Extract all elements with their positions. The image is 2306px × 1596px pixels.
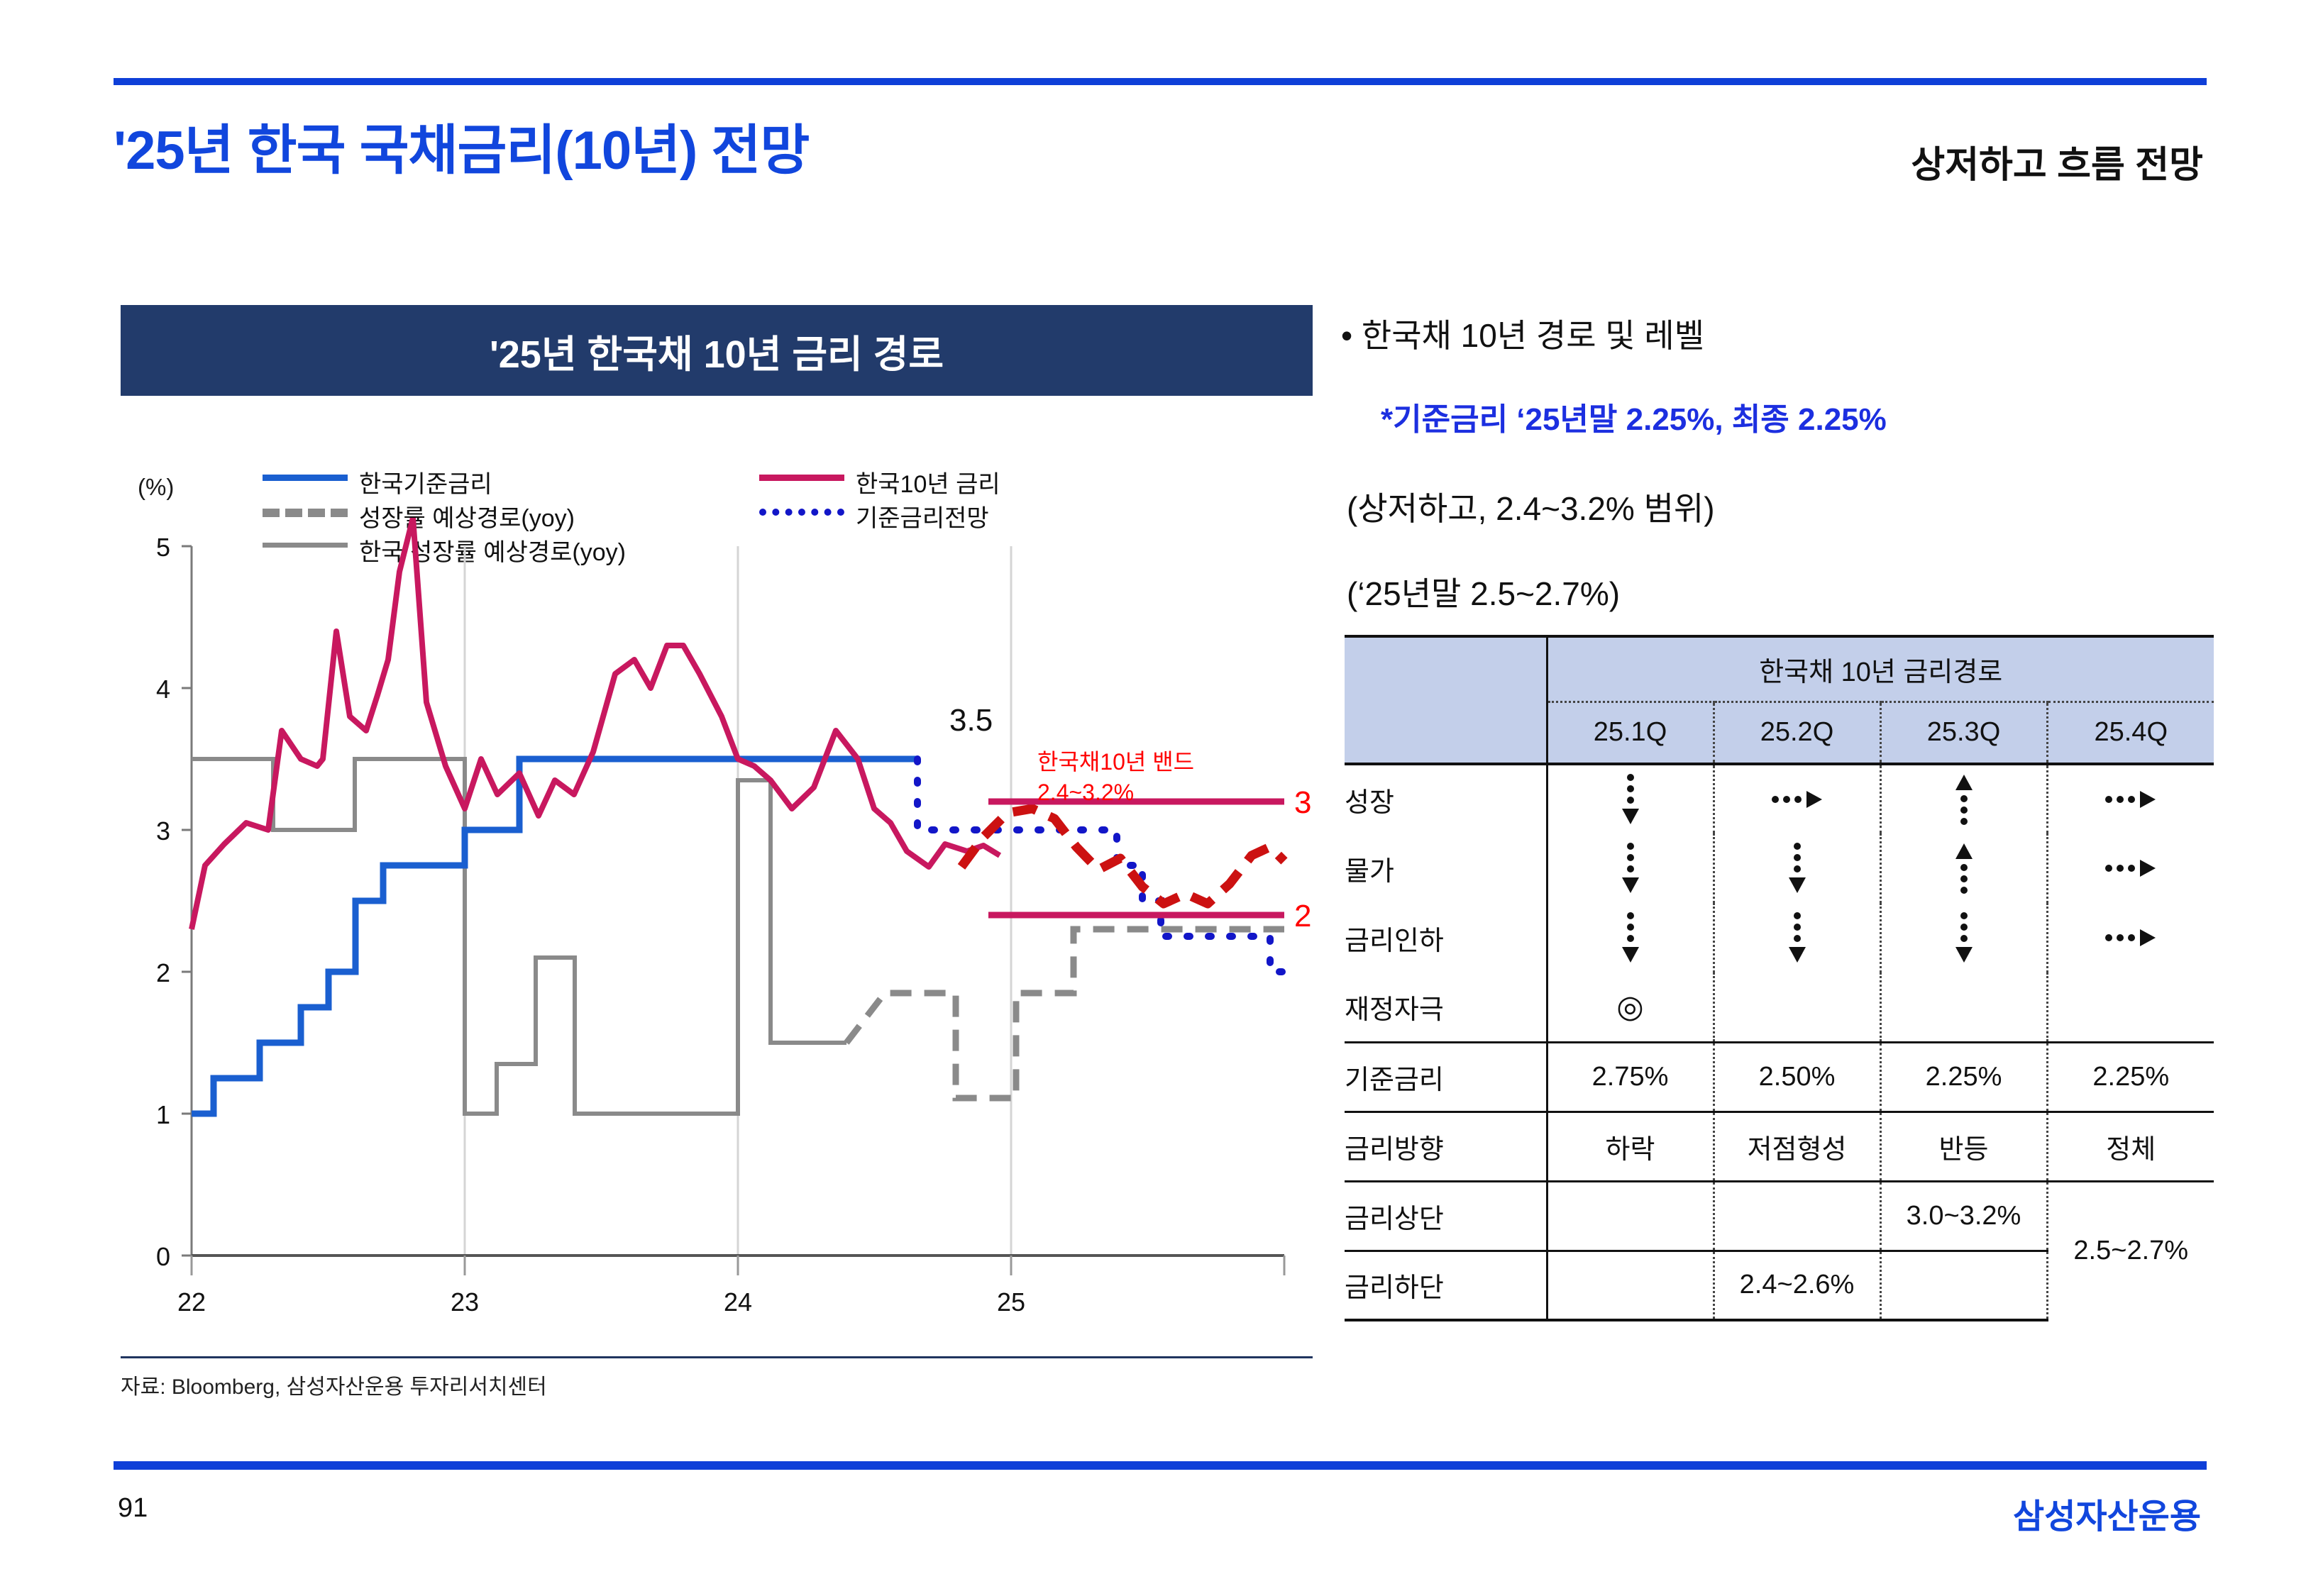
legend-row-1: 한국기준금리 한국10년 금리 xyxy=(263,465,1256,499)
row-label-growth: 성장 xyxy=(1345,764,1547,833)
row-label-fiscal: 재정자극 xyxy=(1345,972,1547,1042)
row-label-policy-rate: 기준금리 xyxy=(1345,1042,1547,1112)
cell-policy-rate-q1: 2.75% xyxy=(1547,1042,1714,1112)
legend-item-policy-rate: 한국기준금리 xyxy=(263,465,759,499)
row-label-rate-upper: 금리상단 xyxy=(1345,1181,1547,1251)
table-row: 물가 xyxy=(1345,833,2214,903)
cell-fiscal-q1: ◎ xyxy=(1547,972,1714,1042)
table-span-header: 한국채 10년 금리경로 xyxy=(1547,636,2214,702)
table-header-quarters-row: 25.1Q 25.2Q 25.3Q 25.4Q xyxy=(1345,702,2214,764)
cell-policy-rate-q3: 2.25% xyxy=(1880,1042,2047,1112)
chart-plot-area: 5 4 3 2 1 0 22 23 24 25 xyxy=(121,518,1313,1362)
page-number: 91 xyxy=(118,1493,148,1524)
table-col-header-q4: 25.4Q xyxy=(2047,702,2214,764)
row-label-rate-cut: 금리인하 xyxy=(1345,903,1547,972)
cell-rate-upper-q1 xyxy=(1547,1181,1714,1251)
table-corner-cell xyxy=(1345,636,1547,702)
annotation-band-line1: 한국채10년 밴드 xyxy=(1037,749,1194,775)
cell-rate-lower-q2: 2.4~2.6% xyxy=(1714,1251,1880,1320)
chart-source-note: 자료: Bloomberg, 삼성자산운용 투자리서치센터 xyxy=(121,1369,547,1400)
arrow-up-icon xyxy=(1950,772,1978,827)
cell-rate-cut-q3 xyxy=(1880,903,2047,972)
header-top-rule xyxy=(114,78,2207,85)
bullet-line-2: *기준금리 ‘25년말 2.25%, 최종 2.25% xyxy=(1381,404,1887,436)
cell-policy-rate-q4: 2.25% xyxy=(2047,1042,2214,1112)
cell-inflation-q3 xyxy=(1880,833,2047,903)
arrow-right-icon xyxy=(2103,924,2158,952)
table-header-span-row: 한국채 10년 금리경로 xyxy=(1345,636,2214,702)
cell-rate-cut-q2 xyxy=(1714,903,1880,972)
annotation-peak-3p5: 3.5 xyxy=(949,703,993,738)
arrow-down-icon xyxy=(1616,910,1645,965)
arrow-down-icon xyxy=(1783,910,1811,965)
table-col-header-q3: 25.3Q xyxy=(1880,702,2047,764)
series-policy-rate xyxy=(192,759,917,1114)
cell-policy-rate-q2: 2.50% xyxy=(1714,1042,1880,1112)
cell-growth-q4 xyxy=(2047,764,2214,833)
arrow-right-icon xyxy=(2103,854,2158,882)
arrow-up-icon xyxy=(1950,841,1978,896)
brand-logo: 삼성자산운용 xyxy=(2013,1488,2201,1538)
arrow-down-icon xyxy=(1783,841,1811,896)
x-tick-25: 25 xyxy=(997,1287,1025,1317)
table-col-header-q2: 25.2Q xyxy=(1714,702,1880,764)
table-row: 기준금리 2.75% 2.50% 2.25% 2.25% xyxy=(1345,1042,2214,1112)
x-tick-24: 24 xyxy=(724,1287,752,1317)
cell-rate-direction-q4: 정체 xyxy=(2047,1112,2214,1181)
cell-growth-q3 xyxy=(1880,764,2047,833)
table-corner-cell-2 xyxy=(1345,702,1547,764)
cell-rate-direction-q2: 저점형성 xyxy=(1714,1112,1880,1181)
row-label-rate-lower: 금리하단 xyxy=(1345,1251,1547,1320)
header-subtitle: 상저하고 흐름 전망 xyxy=(1911,135,2203,188)
y-tick-4: 4 xyxy=(156,675,170,704)
legend-label-kr10y: 한국10년 금리 xyxy=(856,465,1000,499)
arrow-down-icon xyxy=(1950,910,1978,965)
table-row: 금리상단 3.0~3.2% 2.5~2.7% xyxy=(1345,1181,2214,1251)
annotation-band-upper-value: 3.2 xyxy=(1294,785,1313,820)
page-title: '25년 한국 국채금리(10년) 전망 xyxy=(114,106,809,184)
cell-inflation-q4 xyxy=(2047,833,2214,903)
arrow-right-icon xyxy=(2103,785,2158,814)
cell-rate-lower-q3 xyxy=(1880,1251,2047,1320)
x-tick-23: 23 xyxy=(451,1287,479,1317)
cell-rate-lower-q1 xyxy=(1547,1251,1714,1320)
series-growth-forecast xyxy=(846,929,1284,1098)
row-label-rate-direction: 금리방향 xyxy=(1345,1112,1547,1181)
legend-swatch-solid-pink-icon xyxy=(759,475,844,490)
cell-fiscal-q4 xyxy=(2047,972,2214,1042)
table-row: 재정자극 ◎ xyxy=(1345,972,2214,1042)
chart-panel: '25년 한국채 10년 금리 경로 (%) 한국기준금리 한국10년 금리 성… xyxy=(121,305,1313,1412)
cell-rate-cut-q1 xyxy=(1547,903,1714,972)
y-tick-5: 5 xyxy=(156,533,170,562)
cell-growth-q1 xyxy=(1547,764,1714,833)
x-tick-22: 22 xyxy=(177,1287,206,1317)
cell-rate-direction-q3: 반등 xyxy=(1880,1112,2047,1181)
legend-label-policy-rate: 한국기준금리 xyxy=(359,465,492,499)
bullet-line-1: • 한국채 10년 경로 및 레벨 xyxy=(1341,319,1704,352)
chart-title-bar: '25년 한국채 10년 금리 경로 xyxy=(121,305,1313,396)
legend-swatch-solid-blue-icon xyxy=(263,475,348,490)
chart-title: '25년 한국채 10년 금리 경로 xyxy=(490,323,944,379)
cell-fiscal-q3 xyxy=(1880,972,2047,1042)
annotation-band-lower-value: 2.4 xyxy=(1294,899,1313,933)
cell-rate-upper-q3: 3.0~3.2% xyxy=(1880,1181,2047,1251)
cell-rate-direction-q1: 하락 xyxy=(1547,1112,1714,1181)
y-tick-3: 3 xyxy=(156,816,170,846)
cell-inflation-q1 xyxy=(1547,833,1714,903)
annotation-band-line2: 2.4~3.2% xyxy=(1037,780,1134,805)
footer-rule xyxy=(114,1461,2207,1470)
chart-source-rule xyxy=(121,1356,1313,1358)
table-row: 성장 xyxy=(1345,764,2214,833)
cell-merged-q4-range: 2.5~2.7% xyxy=(2047,1181,2214,1320)
table-row: 금리방향 하락 저점형성 반등 정체 xyxy=(1345,1112,2214,1181)
table-row: 금리인하 xyxy=(1345,903,2214,972)
arrow-down-icon xyxy=(1616,841,1645,896)
y-tick-1: 1 xyxy=(156,1100,170,1129)
arrow-right-icon xyxy=(1770,785,1825,814)
cell-growth-q2 xyxy=(1714,764,1880,833)
row-label-inflation: 물가 xyxy=(1345,833,1547,903)
y-tick-2: 2 xyxy=(156,958,170,987)
bullet-line-3: (상저하고, 2.4~3.2% 범위) xyxy=(1347,492,1715,525)
x-axis: 22 23 24 25 xyxy=(177,1256,1284,1317)
forecast-table: 한국채 10년 금리경로 25.1Q 25.2Q 25.3Q 25.4Q 성장 xyxy=(1345,635,2214,1321)
cell-rate-cut-q4 xyxy=(2047,903,2214,972)
y-axis-ticks: 5 4 3 2 1 0 xyxy=(156,533,192,1271)
cell-fiscal-q2 xyxy=(1714,972,1880,1042)
bullet-line-4: (‘25년말 2.5~2.7%) xyxy=(1347,577,1620,610)
table-col-header-q1: 25.1Q xyxy=(1547,702,1714,764)
series-kr10y-actual xyxy=(192,518,1000,929)
series-kr10y-forecast xyxy=(961,809,1284,904)
cell-rate-upper-q2 xyxy=(1714,1181,1880,1251)
cell-inflation-q2 xyxy=(1714,833,1880,903)
y-tick-0: 0 xyxy=(156,1242,170,1271)
arrow-down-icon xyxy=(1616,772,1645,827)
legend-item-kr10y: 한국10년 금리 xyxy=(759,465,1256,499)
chart-unit-label: (%) xyxy=(138,474,174,501)
